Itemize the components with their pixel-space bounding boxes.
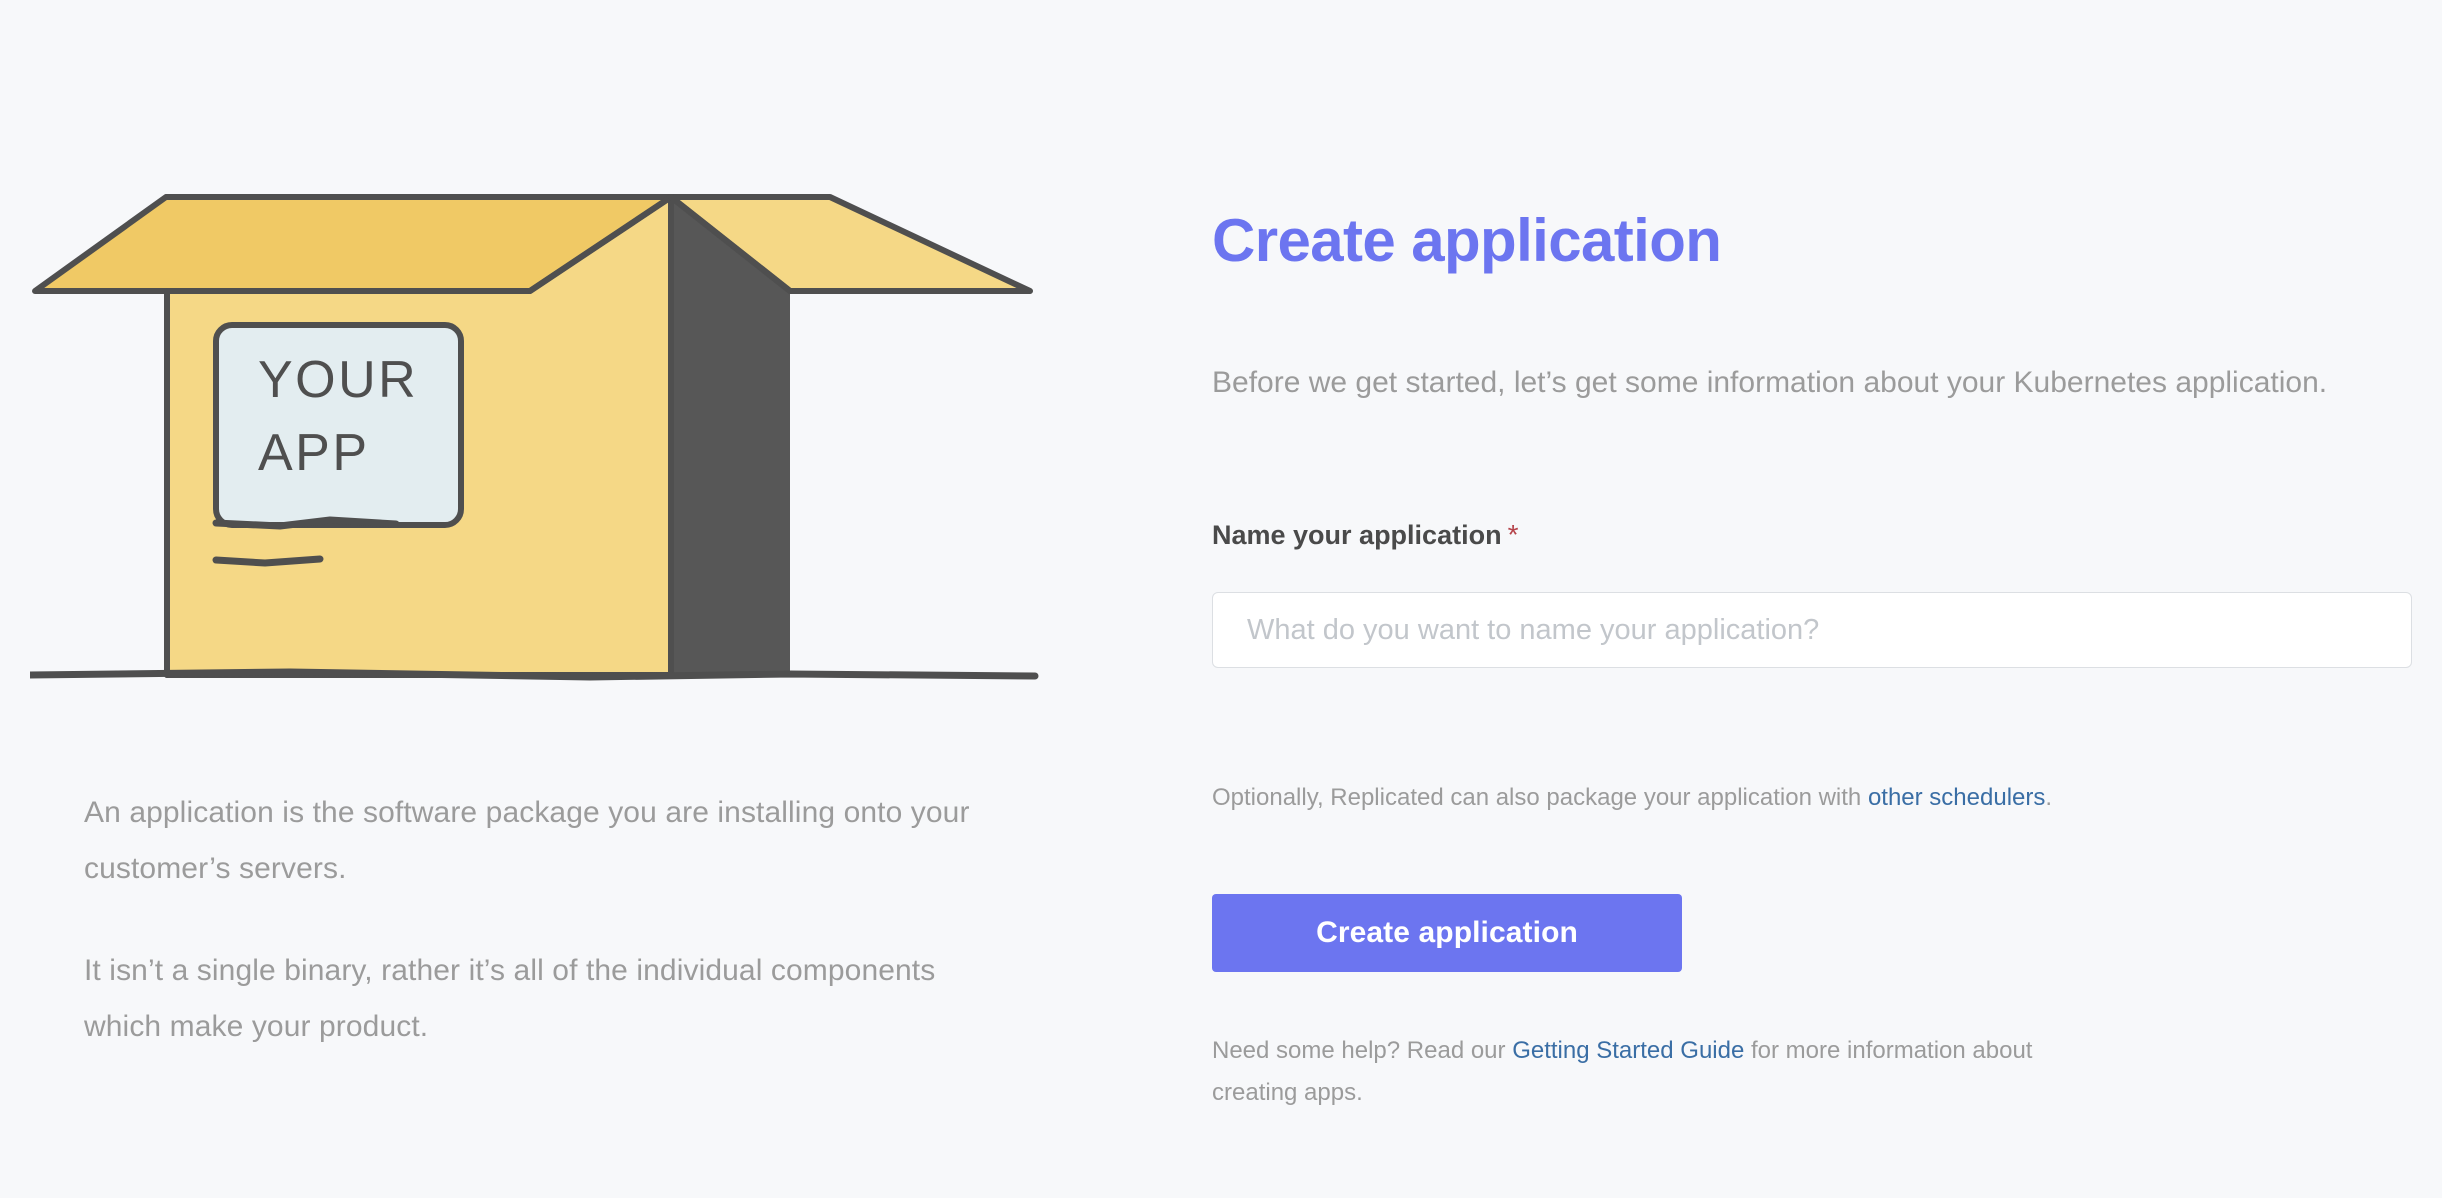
- ground-line: [30, 672, 1035, 677]
- info-column: YOUR APP An application is the software …: [0, 0, 1140, 1198]
- open-cardboard-box-illustration: YOUR APP: [30, 175, 1040, 740]
- optional-schedulers-note: Optionally, Replicated can also package …: [1212, 782, 2052, 814]
- form-intro-text: Before we get started, let’s get some in…: [1212, 355, 2377, 410]
- box-label-text-your: YOUR: [258, 351, 418, 409]
- optional-note-prefix: Optionally, Replicated can also package …: [1212, 784, 1868, 811]
- help-note-prefix: Need some help? Read our: [1212, 1037, 1512, 1064]
- box-address-line-2: [216, 559, 320, 563]
- create-application-button[interactable]: Create application: [1212, 894, 1682, 972]
- info-paragraph-2: It isn’t a single binary, rather it’s al…: [84, 943, 1014, 1055]
- name-field-label-text: Name your application: [1212, 520, 1502, 550]
- create-application-form-column: Create application Before we get started…: [1212, 0, 2422, 1198]
- optional-note-suffix: .: [2045, 784, 2052, 811]
- info-text-block: An application is the software package y…: [84, 785, 1014, 1055]
- create-application-page: YOUR APP An application is the software …: [0, 0, 2442, 1198]
- required-asterisk: *: [1508, 519, 1519, 550]
- page-title: Create application: [1212, 206, 1721, 276]
- box-address-line-1: [216, 520, 396, 526]
- application-name-input[interactable]: [1212, 592, 2412, 668]
- getting-started-guide-link[interactable]: Getting Started Guide: [1512, 1037, 1744, 1064]
- other-schedulers-link[interactable]: other schedulers: [1868, 784, 2045, 811]
- help-note: Need some help? Read our Getting Started…: [1212, 1030, 2112, 1114]
- name-field-label: Name your application*: [1212, 518, 1518, 552]
- info-paragraph-1: An application is the software package y…: [84, 785, 1014, 897]
- box-label-text-app: APP: [258, 424, 370, 482]
